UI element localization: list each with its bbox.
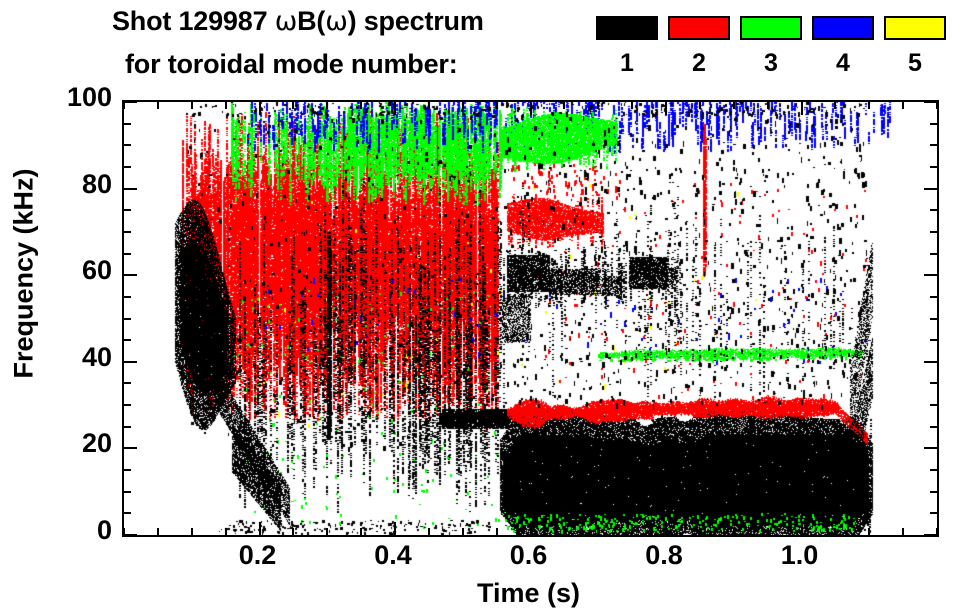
y-tick-minor [930,404,937,406]
x-axis-tick-labels: 0.20.40.60.81.0 [122,540,935,574]
x-tick-minor [123,528,125,535]
y-tick-minor [930,426,937,428]
y-tick-minor [124,144,131,146]
y-tick-minor [124,426,131,428]
x-tick-minor [902,102,904,109]
y-tick-minor [930,491,937,493]
y-tick-major [924,188,937,190]
legend-swatch-mode-n2 [668,16,730,40]
y-tick-minor [124,296,131,298]
omega-symbol-1: ω [275,6,297,37]
legend-item-mode-n1: 1 [596,14,660,90]
x-tick-label: 1.0 [755,540,845,571]
y-tick-major [924,274,937,276]
x-tick-minor [834,102,836,109]
y-tick-minor [930,166,937,168]
legend-swatch-mode-n3 [740,16,802,40]
x-tick-label: 0.8 [619,540,709,571]
x-tick-minor [699,102,701,109]
legend-label-mode-n4: 4 [812,49,874,78]
y-tick-minor [124,339,131,341]
x-tick-minor [496,102,498,109]
y-tick-minor [124,382,131,384]
x-tick-minor [157,528,159,535]
y-tick-major [124,188,137,190]
title-prefix: Shot 129987 [112,6,275,36]
title-suffix: ) spectrum [348,6,484,36]
x-tick-minor [462,528,464,535]
x-tick-major [394,102,396,115]
x-tick-major [665,522,667,535]
x-tick-minor [834,528,836,535]
x-tick-minor [902,528,904,535]
y-tick-minor [124,404,131,406]
legend-swatch-mode-n1 [596,16,658,40]
legend-label-mode-n2: 2 [668,49,730,78]
x-tick-minor [428,102,430,109]
legend-item-mode-n3: 3 [740,14,804,90]
x-tick-minor [563,528,565,535]
y-tick-minor [124,209,131,211]
y-tick-minor [124,512,131,514]
x-tick-major [259,102,261,115]
x-tick-minor [292,102,294,109]
y-tick-minor [124,253,131,255]
legend-swatch-mode-n5 [884,16,946,40]
x-tick-minor [191,528,193,535]
x-tick-minor [496,528,498,535]
x-tick-minor [733,528,735,535]
y-tick-minor [930,318,937,320]
title-mid: B( [297,6,325,36]
x-tick-major [394,522,396,535]
y-tick-minor [930,339,937,341]
y-tick-major [124,101,137,103]
x-tick-minor [733,102,735,109]
y-tick-major [124,361,137,363]
x-tick-minor [868,102,870,109]
x-tick-label: 0.4 [348,540,438,571]
x-tick-minor [563,102,565,109]
y-tick-minor [124,123,131,125]
x-tick-minor [868,528,870,535]
y-tick-minor [124,318,131,320]
x-axis-title: Time (s) [122,578,935,609]
y-tick-minor [930,144,937,146]
x-tick-major [530,522,532,535]
figure-title-line-1: Shot 129987 ωB(ω) spectrum [112,6,484,37]
x-tick-minor [631,528,633,535]
legend-label-mode-n5: 5 [884,49,946,78]
y-tick-minor [124,469,131,471]
spectrogram-image [124,102,937,535]
y-tick-major [924,361,937,363]
y-tick-minor [930,123,937,125]
legend-label-mode-n3: 3 [740,49,802,78]
x-tick-minor [191,102,193,109]
x-tick-major [801,102,803,115]
x-tick-minor [767,528,769,535]
y-tick-major [124,447,137,449]
x-tick-minor [326,528,328,535]
y-tick-minor [124,491,131,493]
x-tick-label: 0.2 [213,540,303,571]
legend-item-mode-n2: 2 [668,14,732,90]
y-tick-minor [930,253,937,255]
x-tick-major [665,102,667,115]
y-axis-title: Frequency (kHz) [9,114,40,434]
y-tick-major [124,274,137,276]
y-tick-major [924,447,937,449]
y-tick-label: 0 [12,515,112,546]
x-tick-minor [936,102,938,109]
y-tick-minor [124,166,131,168]
x-tick-label: 0.6 [484,540,574,571]
x-tick-minor [462,102,464,109]
y-tick-minor [124,231,131,233]
x-tick-minor [225,102,227,109]
x-tick-minor [597,528,599,535]
legend-item-mode-n4: 4 [812,14,876,90]
x-tick-major [259,522,261,535]
x-tick-major [801,522,803,535]
plot-area [122,100,939,537]
legend-item-mode-n5: 5 [884,14,948,90]
x-tick-minor [292,528,294,535]
x-tick-minor [326,102,328,109]
x-tick-major [530,102,532,115]
y-tick-minor [930,382,937,384]
x-tick-minor [767,102,769,109]
x-tick-minor [157,102,159,109]
x-tick-minor [225,528,227,535]
legend-swatch-mode-n4 [812,16,874,40]
x-tick-minor [597,102,599,109]
omega-symbol-2: ω [325,6,347,37]
y-tick-minor [930,469,937,471]
x-tick-minor [428,528,430,535]
y-tick-minor [930,231,937,233]
x-tick-minor [936,528,938,535]
x-tick-minor [360,102,362,109]
figure-title-line-2: for toroidal mode number: [125,49,458,80]
y-tick-major [124,534,137,536]
spectrogram-canvas [124,102,937,535]
x-tick-minor [360,528,362,535]
y-tick-minor [930,209,937,211]
x-tick-minor [699,528,701,535]
x-tick-minor [123,102,125,109]
legend: 12345 [596,14,956,90]
legend-label-mode-n1: 1 [596,49,658,78]
y-tick-label: 100 [12,82,112,113]
plot-figure: Shot 129987 ωB(ω) spectrum for toroidal … [0,0,963,615]
y-tick-minor [930,296,937,298]
y-tick-minor [930,512,937,514]
x-tick-minor [631,102,633,109]
